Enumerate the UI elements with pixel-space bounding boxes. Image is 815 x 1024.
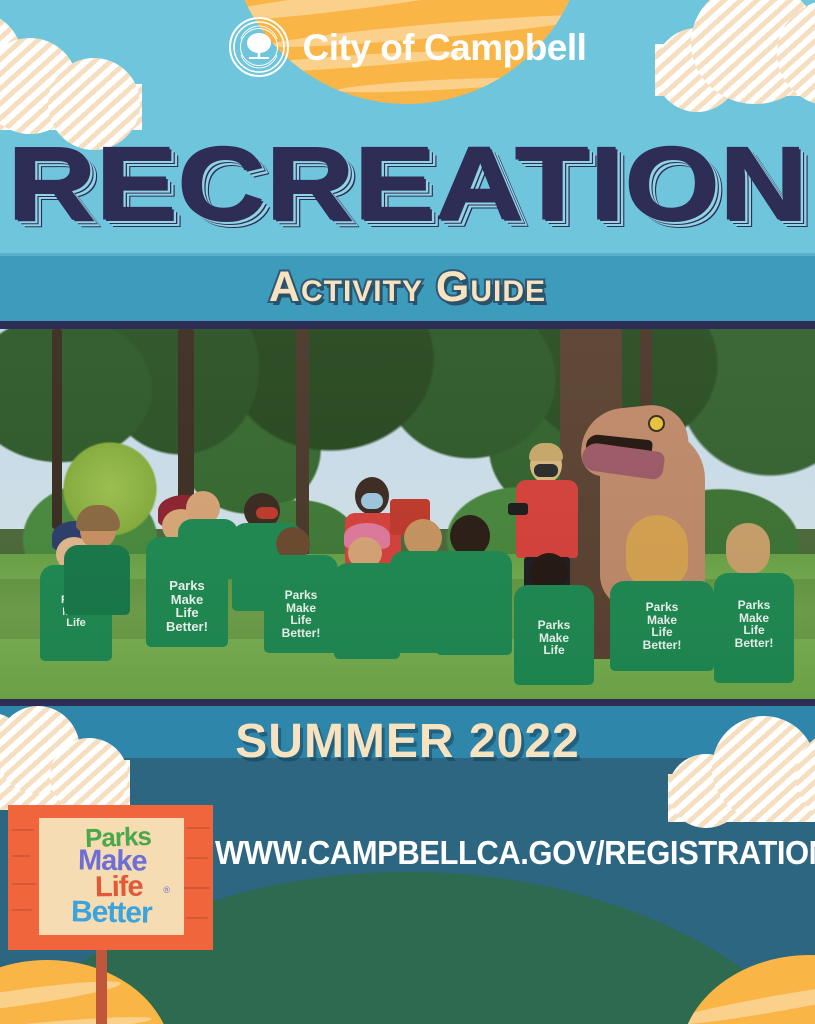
sign-line-better: Better	[71, 900, 152, 928]
registration-url[interactable]: WWW.CAMPBELLCA.GOV/REGISTRATION	[215, 836, 741, 869]
header: City of Campbell	[0, 14, 815, 80]
photo-top-rule	[0, 321, 815, 329]
registered-trademark-mark: ®	[163, 885, 170, 895]
subtitle-band-highlight	[0, 253, 815, 256]
season-title: SUMMER 2022	[0, 718, 815, 766]
city-seal-tree-icon	[229, 17, 289, 77]
parks-make-life-better-sign: Parks Make Life Better ®	[8, 805, 213, 950]
cover-photo: ParksMakeLife ParksMakeLifeBetter!	[0, 329, 815, 699]
photo-bottom-rule	[0, 699, 815, 706]
photo-overlay	[0, 329, 815, 699]
page-title: RECREATION	[0, 132, 815, 236]
subtitle: Activity Guide	[0, 266, 815, 309]
activity-guide-cover: City of Campbell RECREATION Activity Gui…	[0, 0, 815, 1024]
sign-panel: Parks Make Life Better ®	[39, 818, 184, 935]
city-name: City of Campbell	[303, 29, 587, 66]
